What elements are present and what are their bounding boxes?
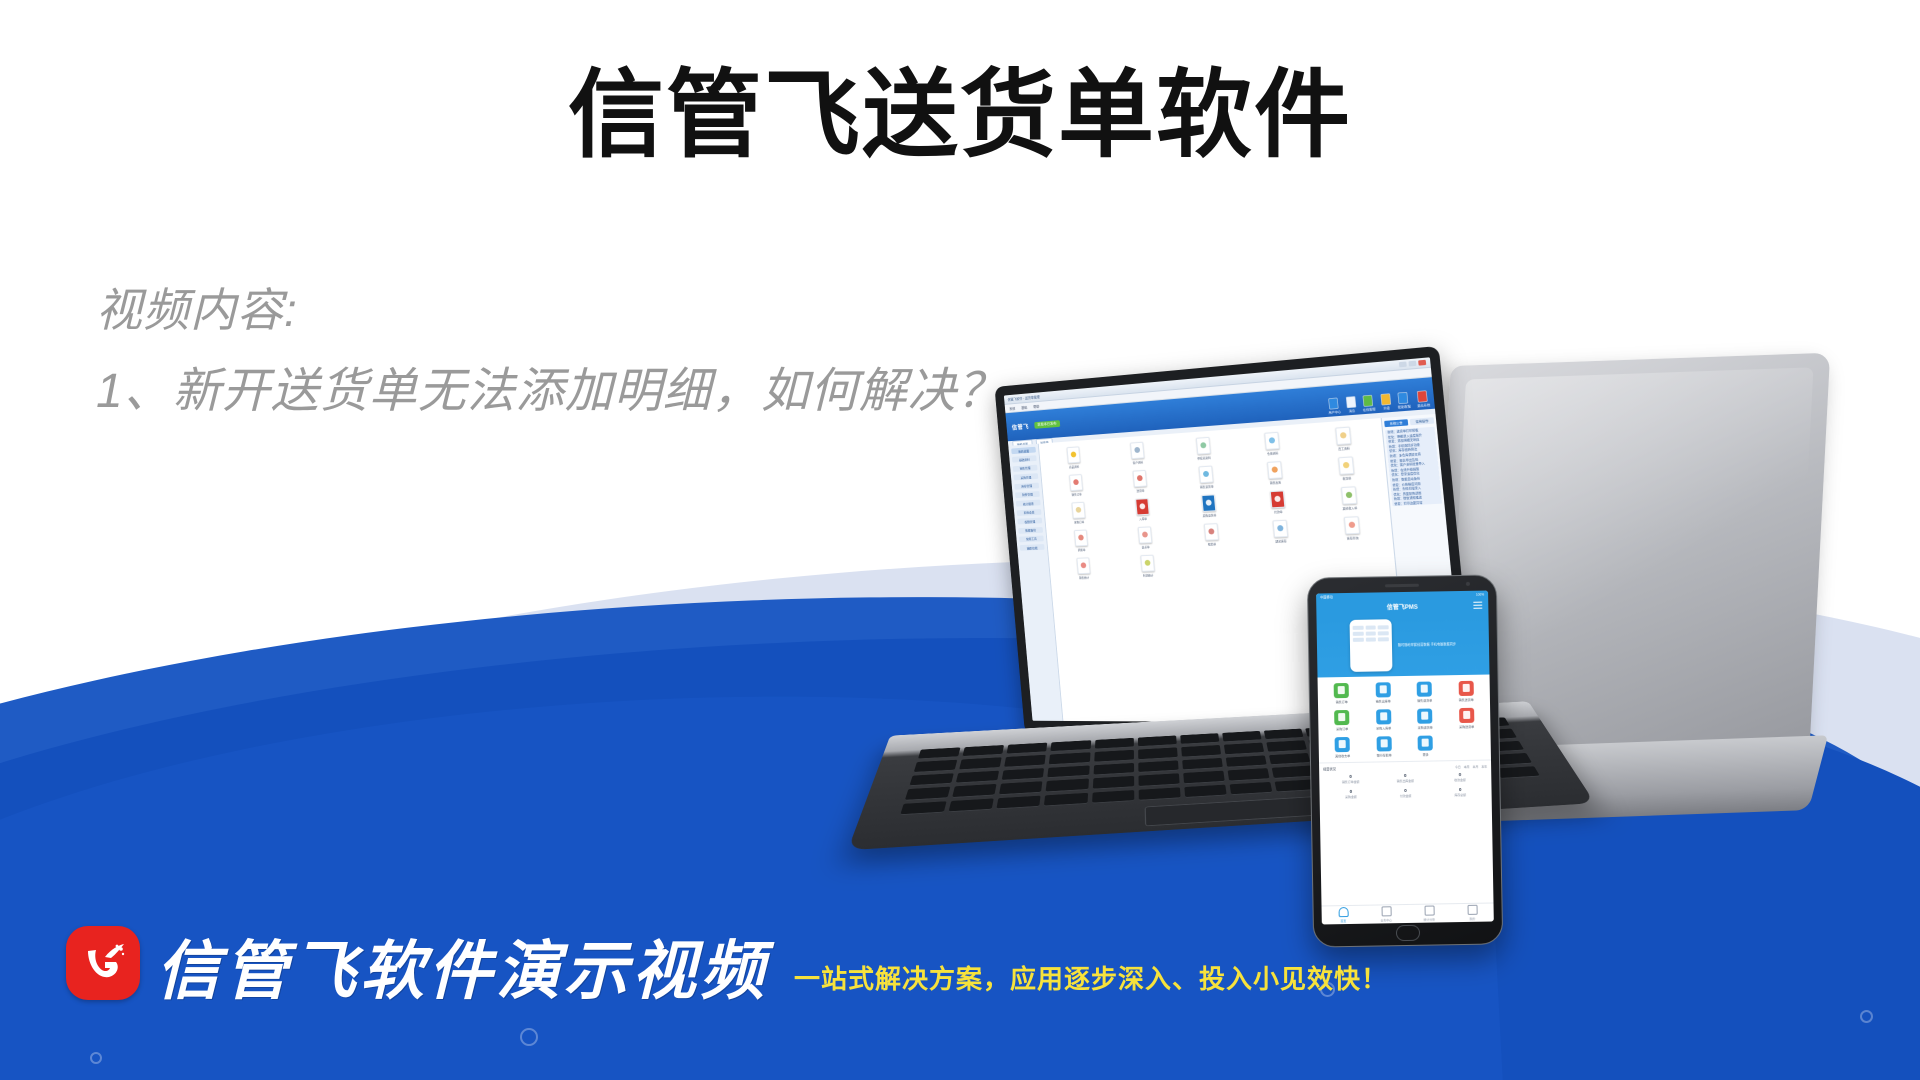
menu-item-help[interactable]: 帮助 bbox=[1033, 403, 1039, 408]
maximize-button[interactable] bbox=[1408, 361, 1416, 367]
app-icon-4[interactable]: 员工资料 bbox=[1308, 425, 1380, 457]
mobile-stat-cell-1: 0销售出库金额 bbox=[1378, 773, 1433, 784]
power-icon bbox=[1417, 390, 1428, 402]
app-icon-label: 利润统计 bbox=[1143, 573, 1154, 577]
sidebar-item-5[interactable]: 财务管理 bbox=[1015, 491, 1040, 498]
mobile-grid-icon bbox=[1459, 708, 1474, 723]
mobile-nav-统计分析[interactable]: 统计分析 bbox=[1408, 904, 1451, 923]
mobile-function-grid[interactable]: 销售订单销售出库单销售退货单销售送货单采购订单采购入库单采购退货单采购送货单其他… bbox=[1318, 675, 1491, 763]
mobile-stat-value: 0 bbox=[1459, 787, 1462, 792]
toolbar-help[interactable]: 帮助教程 bbox=[1396, 392, 1411, 410]
right-tab-notice[interactable]: 系统公告 bbox=[1384, 419, 1408, 427]
app-icon-6[interactable]: 送货单 bbox=[1108, 468, 1173, 497]
page-title: 信管飞送货单软件 bbox=[0, 62, 1920, 170]
app-icon-label: 收款单 bbox=[1342, 476, 1351, 481]
mobile-grid-label: 销售出库单 bbox=[1376, 699, 1391, 703]
keyboard-key[interactable] bbox=[1004, 755, 1046, 767]
mobile-stat-value: 0 bbox=[1404, 788, 1407, 793]
home-icon bbox=[1338, 907, 1348, 917]
book-icon bbox=[1398, 392, 1409, 404]
upgrade-icon bbox=[1380, 393, 1391, 405]
app-icon-label: 销售订单 bbox=[1071, 492, 1081, 496]
app-icon-19[interactable]: 库存查询 bbox=[1316, 515, 1389, 545]
mobile-stats-grid: 0销售订单金额0销售出库金额0收款金额0采购金额0付款金额0库存总额 bbox=[1323, 772, 1487, 800]
app-icon-9[interactable]: 收款单 bbox=[1310, 455, 1382, 486]
carrier-label: 中国移动 bbox=[1320, 594, 1333, 599]
phone-screen: 中国移动 100% 信管飞PMS 随时随地掌握经营数据 手机电脑数据同步 销售订… bbox=[1316, 591, 1494, 925]
video-content-item-1: 1、新开送货单无法添加明细，如何解决？ bbox=[96, 362, 1006, 422]
sidebar-item-2[interactable]: 销售管理 bbox=[1013, 464, 1038, 471]
mobile-stat-value: 0 bbox=[1459, 772, 1462, 777]
xinguanfei-bird-logo-icon bbox=[66, 926, 140, 1000]
mobile-stat-label: 收款金额 bbox=[1433, 778, 1488, 783]
sidebar-item-4[interactable]: 库存管理 bbox=[1014, 482, 1039, 489]
phone-camera-icon bbox=[1466, 582, 1470, 586]
app-icon-18[interactable]: 期初库存 bbox=[1246, 518, 1316, 547]
keyboard-key[interactable] bbox=[1007, 743, 1048, 755]
keyboard-key[interactable] bbox=[1049, 753, 1090, 765]
app-icon-13[interactable]: 付款单 bbox=[1243, 489, 1313, 519]
app-icon-label: 销售退货单 bbox=[1200, 484, 1214, 489]
sidebar-item-11[interactable]: 辅助功能 bbox=[1020, 544, 1045, 551]
app-icon-0[interactable]: 商品资料 bbox=[1043, 445, 1105, 474]
range-week[interactable]: 本周 bbox=[1464, 764, 1470, 768]
app-icon-label: 调拨单 bbox=[1078, 547, 1086, 551]
mobile-grid-label: 销售订单 bbox=[1336, 700, 1348, 704]
app-icon-21[interactable]: 利润统计 bbox=[1115, 554, 1180, 582]
phone-speaker bbox=[1385, 584, 1419, 588]
keyboard-key[interactable] bbox=[1226, 755, 1267, 767]
mobile-grid-item-7[interactable]: 采购送货单 bbox=[1447, 708, 1487, 730]
mobile-grid-label: 销售送货单 bbox=[1459, 698, 1474, 702]
mobile-nav-首页[interactable]: 首页 bbox=[1322, 906, 1365, 925]
keyboard-key[interactable] bbox=[1094, 738, 1133, 750]
mobile-nav-我的[interactable]: 我的 bbox=[1451, 903, 1494, 922]
mobile-grid-icon bbox=[1417, 682, 1432, 697]
app-icon-label: 盘点单 bbox=[1142, 545, 1150, 549]
mobile-grid-item-1[interactable]: 销售出库单 bbox=[1363, 682, 1403, 704]
keyboard-key[interactable] bbox=[1138, 773, 1179, 786]
app-icon-label: 库存查询 bbox=[1347, 535, 1359, 540]
window-controls[interactable] bbox=[1399, 360, 1426, 368]
keyboard-key[interactable] bbox=[1269, 753, 1311, 765]
mobile-stat-cell-0: 0销售订单金额 bbox=[1323, 773, 1378, 784]
mobile-stats-header: 经营状况 今日 本周 本月 本年 bbox=[1323, 764, 1487, 772]
toolbar-support[interactable]: 在线客服 bbox=[1361, 395, 1375, 413]
mobile-grid-icon bbox=[1376, 709, 1391, 724]
range-month[interactable]: 本月 bbox=[1473, 764, 1479, 768]
keyboard-key[interactable] bbox=[997, 795, 1041, 809]
keyboard-key[interactable] bbox=[1093, 763, 1134, 776]
sidebar-item-9[interactable]: 数据备份 bbox=[1018, 527, 1043, 534]
mobile-grid-item-9[interactable]: 银行存取单 bbox=[1364, 736, 1404, 758]
mobile-grid-icon bbox=[1334, 710, 1349, 725]
mobile-stats-title: 经营状况 bbox=[1323, 766, 1336, 771]
mobile-grid-item-8[interactable]: 其他收支单 bbox=[1323, 737, 1363, 759]
app-icon-glyph bbox=[1074, 530, 1088, 547]
app-icon-label: 仓库资料 bbox=[1267, 451, 1279, 456]
app-icon-1[interactable]: 客户资料 bbox=[1105, 440, 1169, 470]
app-icon-label: 采购退货单 bbox=[1202, 513, 1216, 518]
app-icon-label: 采购订单 bbox=[1074, 520, 1084, 524]
keyboard-key[interactable] bbox=[900, 801, 947, 815]
mobile-grid-icon bbox=[1417, 709, 1432, 724]
range-today[interactable]: 今日 bbox=[1455, 765, 1461, 769]
message-icon bbox=[1346, 396, 1356, 408]
mobile-app-name: 信管飞PMS bbox=[1387, 602, 1418, 612]
toolbar-exit[interactable]: 退出系统 bbox=[1416, 390, 1431, 408]
keyboard-key[interactable] bbox=[1051, 740, 1091, 752]
app-icon-glyph bbox=[1203, 523, 1218, 541]
mobile-grid-icon bbox=[1458, 681, 1473, 696]
keyboard-key[interactable] bbox=[1048, 765, 1090, 778]
app-icon-8[interactable]: 销售出库 bbox=[1240, 459, 1310, 489]
slide-canvas: 信管飞送货单软件 视频内容: 1、新开送货单无法添加明细，如何解决？ 信管飞软件… bbox=[0, 0, 1920, 1080]
sidebar-item-0[interactable]: 我的桌面 bbox=[1011, 447, 1036, 454]
app-icon-10[interactable]: 采购订单 bbox=[1048, 500, 1110, 528]
keyboard-key[interactable] bbox=[909, 773, 954, 786]
keyboard-key[interactable] bbox=[1184, 784, 1227, 797]
mobile-stat-value: 0 bbox=[1349, 774, 1352, 779]
grid-icon bbox=[1381, 907, 1391, 917]
mobile-app-title: 信管飞PMS bbox=[1316, 598, 1488, 616]
mobile-grid-item-10[interactable]: 更多 bbox=[1406, 735, 1446, 757]
app-icon-glyph bbox=[1130, 442, 1144, 459]
keyboard-key[interactable] bbox=[962, 745, 1004, 757]
toolbar-upgrade[interactable]: 升级 bbox=[1380, 393, 1391, 410]
sidebar-item-3[interactable]: 采购管理 bbox=[1013, 473, 1038, 480]
bubble-decor-icon bbox=[520, 1028, 538, 1046]
mobile-grid-label: 其他收支单 bbox=[1335, 754, 1350, 758]
keyboard-key[interactable] bbox=[1495, 766, 1540, 779]
mockup-grid bbox=[1352, 625, 1388, 642]
app-icon-2[interactable]: 供应商资料 bbox=[1170, 435, 1237, 465]
minimize-button[interactable] bbox=[1399, 361, 1407, 367]
mobile-stats-section: 经营状况 今日 本周 本月 本年 0销售订单金额0销售出库金额0收款金额0采购金… bbox=[1319, 759, 1492, 802]
app-icon-3[interactable]: 仓库资料 bbox=[1238, 430, 1307, 461]
footer-brand-name: 信管飞软件演示视频 bbox=[156, 940, 768, 1004]
mobile-nav-label: 统计分析 bbox=[1423, 917, 1435, 921]
keyboard-key[interactable] bbox=[1092, 790, 1134, 804]
app-icon-label: 销售出库 bbox=[1270, 480, 1282, 485]
keyboard-key[interactable] bbox=[1272, 766, 1314, 779]
close-button[interactable] bbox=[1418, 360, 1426, 366]
app-icon-glyph bbox=[1338, 456, 1354, 474]
app-icon-17[interactable]: 报损单 bbox=[1178, 522, 1245, 551]
mobile-grid-label: 销售退货单 bbox=[1417, 699, 1432, 703]
mobile-grid-icon bbox=[1334, 683, 1349, 698]
menu-item-basic[interactable]: 基础 bbox=[1021, 404, 1027, 409]
app-icon-label: 销售统计 bbox=[1079, 575, 1089, 579]
app-icon-glyph bbox=[1137, 526, 1152, 543]
keyboard-key[interactable] bbox=[1267, 740, 1308, 752]
app-icon-glyph bbox=[1264, 432, 1280, 450]
app-icon-glyph bbox=[1132, 470, 1147, 487]
app-icon-11[interactable]: 入库单 bbox=[1110, 497, 1175, 526]
app-icon-glyph bbox=[1343, 516, 1359, 534]
app-icon-glyph bbox=[1076, 557, 1090, 574]
app-icon-label: 报损单 bbox=[1208, 542, 1216, 546]
hamburger-menu-icon[interactable] bbox=[1473, 601, 1482, 609]
mobile-grid-item-6[interactable]: 采购退货单 bbox=[1405, 708, 1445, 730]
app-icon-label: 期初库存 bbox=[1275, 539, 1287, 544]
keyboard-key[interactable] bbox=[1228, 768, 1270, 781]
keyboard-key[interactable] bbox=[1138, 760, 1179, 773]
mobile-grid-item-0[interactable]: 销售订单 bbox=[1322, 683, 1362, 705]
keyboard-key[interactable] bbox=[918, 747, 961, 759]
app-icon-label: 付款单 bbox=[1274, 509, 1283, 513]
keyboard-key[interactable] bbox=[956, 771, 1000, 784]
keyboard-key[interactable] bbox=[1230, 782, 1273, 795]
keyboard-key[interactable] bbox=[1183, 771, 1225, 784]
app-icon-glyph bbox=[1198, 466, 1213, 484]
laptop-trackpad[interactable] bbox=[1145, 796, 1319, 826]
phone-mockup-illustration-icon bbox=[1349, 619, 1392, 672]
app-icon-glyph bbox=[1266, 461, 1282, 479]
app-icon-12[interactable]: 采购退货单 bbox=[1175, 493, 1242, 522]
mobile-grid-item-2[interactable]: 销售退货单 bbox=[1405, 681, 1445, 703]
keyboard-key[interactable] bbox=[1044, 793, 1087, 807]
sidebar-item-7[interactable]: 系统设置 bbox=[1017, 509, 1042, 516]
mobile-stat-cell-2: 0收款金额 bbox=[1433, 772, 1488, 783]
keyboard-key[interactable] bbox=[1138, 736, 1177, 748]
mobile-hero-text: 随时随地掌握经营数据 手机电脑数据同步 bbox=[1398, 642, 1456, 648]
menu-item-system[interactable]: 系统 bbox=[1009, 405, 1015, 410]
app-icon-glyph bbox=[1201, 494, 1216, 512]
mobile-grid-label: 银行存取单 bbox=[1377, 753, 1392, 757]
app-icon-glyph bbox=[1069, 474, 1083, 491]
keyboard-key[interactable] bbox=[952, 784, 997, 797]
app-icon-label: 员工资料 bbox=[1338, 446, 1350, 451]
right-tab-common[interactable]: 常用操作 bbox=[1410, 417, 1434, 425]
battery-label: 100% bbox=[1476, 592, 1484, 596]
mobile-stats-ranges[interactable]: 今日 本周 本月 本年 bbox=[1455, 764, 1487, 769]
footer-brand-bar: 信管飞软件演示视频 一站式解决方案，应用逐步深入、投入小见效快！ bbox=[66, 926, 1388, 1004]
app-icon-glyph bbox=[1195, 437, 1210, 455]
app-icon-label: 商品资料 bbox=[1069, 464, 1079, 468]
keyboard-key[interactable] bbox=[1181, 745, 1221, 757]
mobile-grid-icon bbox=[1418, 736, 1433, 751]
footer-tagline: 一站式解决方案，应用逐步深入、投入小见效快！ bbox=[794, 959, 1388, 996]
mobile-grid-item-3[interactable]: 销售送货单 bbox=[1446, 681, 1486, 703]
app-icon-glyph bbox=[1272, 520, 1288, 538]
mobile-grid-label: 采购订单 bbox=[1336, 727, 1348, 731]
keyboard-key[interactable] bbox=[1046, 779, 1088, 792]
bubble-decor-icon bbox=[90, 1052, 102, 1064]
keyboard-key[interactable] bbox=[949, 798, 995, 812]
app-icon-label: 供应商资料 bbox=[1197, 455, 1211, 460]
mobile-stat-cell-5: 0库存总额 bbox=[1433, 787, 1488, 798]
app-icon-glyph bbox=[1140, 555, 1155, 572]
keyboard-key[interactable] bbox=[914, 760, 958, 773]
toolbar-user-center[interactable]: 用户中心 bbox=[1327, 397, 1341, 414]
range-year[interactable]: 本年 bbox=[1481, 764, 1487, 768]
app-icon-glyph bbox=[1135, 498, 1150, 515]
app-version-badge[interactable]: 新版本已发布 bbox=[1034, 420, 1061, 429]
video-content-block: 视频内容: 1、新开送货单无法添加明细，如何解决？ bbox=[96, 282, 1006, 422]
app-icon-15[interactable]: 调拨单 bbox=[1050, 528, 1112, 556]
mobile-nav-label: 我的 bbox=[1469, 917, 1475, 921]
mobile-stat-label: 库存总额 bbox=[1433, 793, 1488, 798]
keyboard-key[interactable] bbox=[1182, 758, 1223, 770]
app-icon-glyph bbox=[1066, 446, 1080, 463]
sidebar-item-1[interactable]: 基础资料 bbox=[1012, 456, 1037, 463]
keyboard-key[interactable] bbox=[959, 757, 1002, 769]
mobile-stat-label: 采购金额 bbox=[1324, 794, 1379, 799]
smartphone-image: 中国移动 100% 信管飞PMS 随时随地掌握经营数据 手机电脑数据同步 销售订… bbox=[1307, 574, 1503, 947]
app-icon-glyph bbox=[1340, 486, 1356, 504]
mobile-grid-item-5[interactable]: 采购入库单 bbox=[1364, 709, 1404, 731]
app-icon-7[interactable]: 销售退货单 bbox=[1173, 464, 1240, 494]
app-icon-glyph bbox=[1269, 490, 1285, 508]
phone-home-button[interactable] bbox=[1396, 925, 1420, 941]
keyboard-key[interactable] bbox=[1138, 787, 1180, 801]
right-panel-list[interactable]: 新增：送货单打印模板优化：明细录入速度提升修复：添加明细无响应新增：手机端同步功… bbox=[1385, 426, 1442, 506]
keyboard-key[interactable] bbox=[999, 781, 1043, 794]
chart-icon bbox=[1424, 906, 1434, 916]
app-icon-16[interactable]: 盘点单 bbox=[1113, 525, 1178, 553]
mobile-stat-value: 0 bbox=[1350, 789, 1353, 794]
app-icon-label: 客户资料 bbox=[1132, 460, 1143, 465]
mobile-nav-业务中心[interactable]: 业务中心 bbox=[1365, 905, 1408, 924]
sidebar-item-8[interactable]: 权限管理 bbox=[1017, 518, 1042, 525]
mobile-hero-banner: 随时随地掌握经营数据 手机电脑数据同步 bbox=[1316, 613, 1489, 678]
app-brand: 信管飞 bbox=[1011, 421, 1029, 431]
right-panel-tabs[interactable]: 系统公告 常用操作 bbox=[1384, 417, 1434, 426]
mobile-stat-cell-4: 0付款金额 bbox=[1378, 788, 1433, 799]
sidebar-item-6[interactable]: 统计报表 bbox=[1016, 500, 1041, 507]
keyboard-key[interactable] bbox=[1094, 750, 1134, 762]
mobile-grid-icon bbox=[1375, 682, 1390, 697]
app-icon-label: 入库单 bbox=[1139, 516, 1147, 520]
mobile-grid-label: 采购退货单 bbox=[1418, 726, 1433, 730]
mobile-stat-label: 销售订单金额 bbox=[1323, 779, 1378, 784]
app-icon-14[interactable]: 其他收入单 bbox=[1313, 485, 1385, 516]
mobile-grid-label: 采购送货单 bbox=[1459, 725, 1474, 729]
app-icon-5[interactable]: 销售订单 bbox=[1045, 473, 1107, 502]
keyboard-key[interactable] bbox=[1264, 729, 1304, 740]
keyboard-key[interactable] bbox=[1138, 748, 1178, 760]
sidebar-item-10[interactable]: 常用工具 bbox=[1019, 535, 1044, 542]
mobile-grid-label: 更多 bbox=[1423, 753, 1429, 757]
mobile-bottom-nav[interactable]: 首页业务中心统计分析我的 bbox=[1322, 902, 1494, 924]
app-window-title: 信管飞软件 - 送货单管理 bbox=[1007, 394, 1039, 402]
mobile-grid-icon bbox=[1376, 736, 1391, 751]
keyboard-key[interactable] bbox=[1092, 776, 1134, 789]
mobile-grid-icon bbox=[1335, 737, 1350, 752]
video-content-label: 视频内容: bbox=[96, 282, 1006, 340]
mobile-stat-value: 0 bbox=[1404, 773, 1407, 778]
keyboard-key[interactable] bbox=[905, 787, 951, 801]
headset-icon bbox=[1363, 395, 1374, 407]
app-icon-20[interactable]: 销售统计 bbox=[1052, 556, 1114, 583]
mobile-nav-label: 首页 bbox=[1340, 919, 1346, 923]
keyboard-key[interactable] bbox=[1222, 731, 1262, 742]
toolbar-messages[interactable]: 消息 bbox=[1346, 396, 1357, 413]
app-icon-glyph bbox=[1335, 427, 1351, 445]
user-icon bbox=[1329, 398, 1339, 410]
user-icon bbox=[1467, 905, 1477, 915]
mobile-stat-cell-3: 0采购金额 bbox=[1323, 788, 1378, 799]
app-icon-label: 其他收入单 bbox=[1342, 505, 1357, 510]
app-icon-glyph bbox=[1071, 502, 1085, 519]
mobile-grid-item-4[interactable]: 采购订单 bbox=[1322, 710, 1362, 732]
keyboard-key[interactable] bbox=[1180, 733, 1219, 745]
app-icon-label: 送货单 bbox=[1136, 488, 1144, 492]
mobile-stat-label: 销售出库金额 bbox=[1378, 779, 1433, 784]
keyboard-key[interactable] bbox=[1224, 743, 1264, 755]
mobile-stat-label: 付款金额 bbox=[1378, 794, 1433, 799]
mobile-nav-label: 业务中心 bbox=[1380, 918, 1392, 922]
keyboard-key[interactable] bbox=[1002, 768, 1045, 781]
mobile-grid-label: 采购入库单 bbox=[1376, 726, 1391, 730]
